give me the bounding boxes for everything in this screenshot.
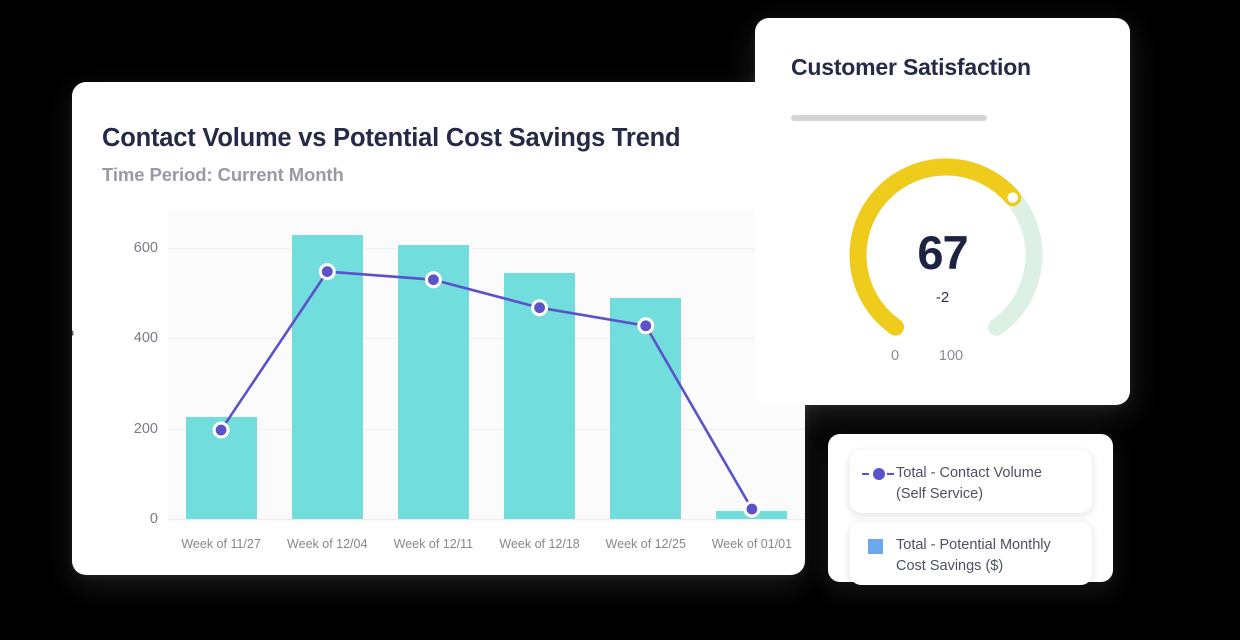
x-axis-tick: Week of 12/25 [606,537,686,551]
divider [791,115,987,121]
gridline [168,429,805,430]
plot-area [168,209,805,522]
y-axis-label: Average [72,323,74,368]
bar[interactable] [610,298,681,519]
bar[interactable] [292,235,363,519]
dashboard-stage: Contact Volume vs Potential Cost Savings… [0,0,1240,640]
page-title: Contact Volume vs Potential Cost Savings… [102,124,680,153]
x-axis-tick: Week of 01/01 [712,537,792,551]
gauge-knob [1006,191,1019,204]
legend-item[interactable]: Total - Potential Monthly Cost Savings (… [850,522,1092,585]
x-axis-tick: Week of 12/04 [287,537,367,551]
bar[interactable] [504,273,575,519]
dashed-line-dot-marker-icon [862,464,896,484]
x-axis-tick: Week of 11/27 [181,537,260,551]
gauge-value: 67 [755,225,1130,280]
x-axis-tick: Week of 12/11 [394,537,473,551]
legend-label: Total - Potential Monthly Cost Savings (… [896,535,1051,576]
y-axis-tick: 600 [102,240,158,256]
gridline [168,248,805,249]
legend-item[interactable]: Total - Contact Volume (Self Service) [850,450,1092,513]
y-axis-tick: 400 [102,330,158,346]
square-swatch-icon [862,536,896,556]
bar[interactable] [398,245,469,519]
axis-baseline [168,519,805,520]
chart-subtitle: Time Period: Current Month [102,164,344,186]
bar[interactable] [186,417,257,519]
contact-volume-chart-card: Contact Volume vs Potential Cost Savings… [72,82,805,575]
chart-legend: Total - Contact Volume (Self Service)Tot… [828,434,1113,582]
x-axis-tick: Week of 12/18 [499,537,579,551]
gauge-delta: -2 [755,289,1130,306]
gridline [168,338,805,339]
y-axis-tick: 200 [102,421,158,437]
gauge-title: Customer Satisfaction [791,54,1031,81]
bar[interactable] [716,511,787,519]
legend-label: Total - Contact Volume (Self Service) [896,463,1042,504]
customer-satisfaction-card: Customer Satisfaction 67 -2 0 100 [755,18,1130,405]
y-axis-tick: 0 [102,511,158,527]
gauge-max-label: 100 [931,348,971,364]
gauge-min-label: 0 [875,348,915,364]
